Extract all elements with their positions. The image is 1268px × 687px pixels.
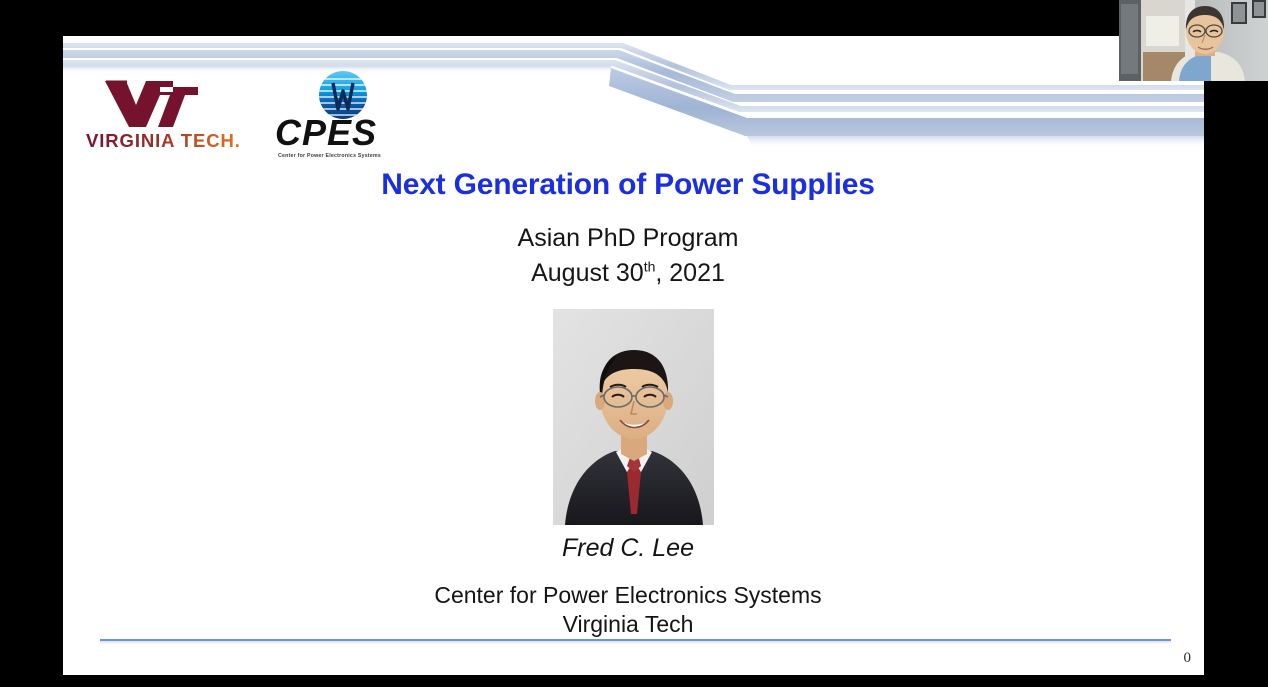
cpes-logo: CPES Center for Power Electronics System… <box>269 69 417 169</box>
date-prefix: August 30 <box>531 259 644 287</box>
virginia-tech-logo: VIRGINIA TECH. <box>80 75 250 153</box>
cpes-tagline: Center for Power Electronics Systems <box>278 153 381 159</box>
slide-page-number: 0 <box>1184 650 1192 667</box>
footer-divider-rule <box>100 639 1171 641</box>
affiliation-line-university: Virginia Tech <box>63 610 1193 639</box>
presenter-name: Fred C. Lee <box>63 534 1193 563</box>
date-year: , 2021 <box>655 259 725 287</box>
slide-title: Next Generation of Power Supplies <box>63 168 1193 202</box>
subtitle-line-program: Asian PhD Program <box>63 221 1193 256</box>
affiliation-line-center: Center for Power Electronics Systems <box>63 581 1193 610</box>
presenter-affiliation: Center for Power Electronics Systems Vir… <box>63 581 1193 639</box>
slide-subtitle: Asian PhD Program August 30th, 2021 <box>63 221 1193 291</box>
presenter-video-thumbnail[interactable] <box>1119 0 1268 81</box>
cpes-wordmark: CPES <box>275 112 377 153</box>
virginia-tech-wordmark: VIRGINIA TECH. <box>86 130 241 151</box>
date-ordinal-suffix: th <box>644 259 656 275</box>
presenter-portrait-photo <box>553 309 714 525</box>
subtitle-line-date: August 30th, 2021 <box>63 256 1193 291</box>
presentation-slide: VIRGINIA TECH. <box>63 36 1204 675</box>
screen-root: VIRGINIA TECH. <box>0 0 1268 687</box>
